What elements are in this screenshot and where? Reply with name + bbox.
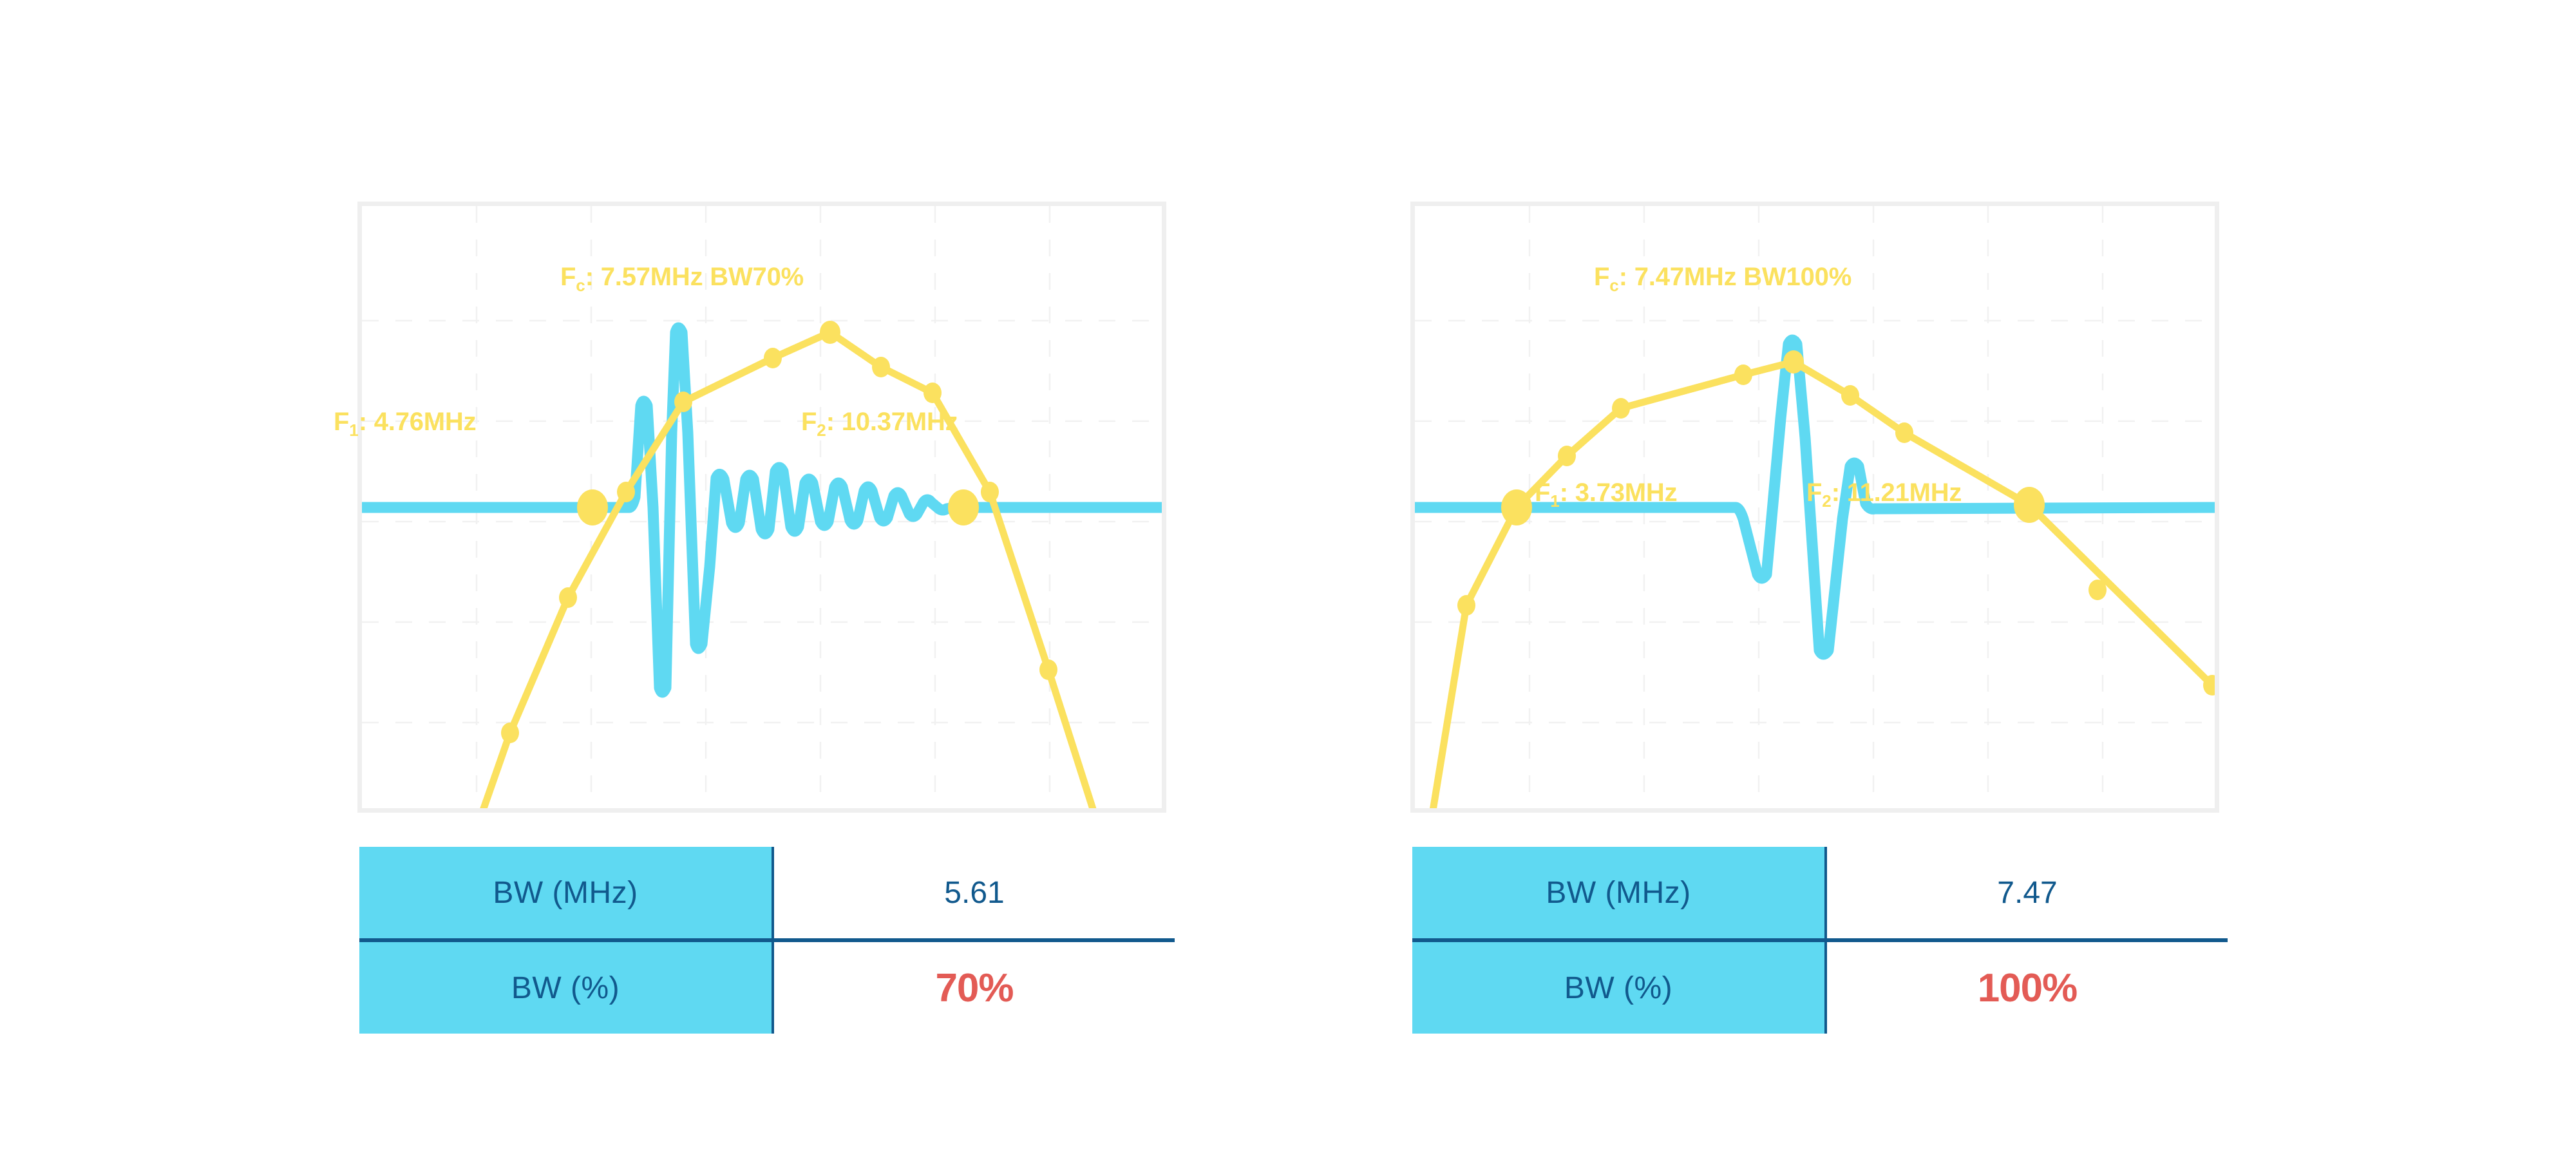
f1-symbol: F1 [334,408,359,436]
bw-mhz-value: 5.61 [773,847,1175,940]
fc-symbol: Fc [560,263,585,291]
upper-cutoff-label-bw100: F2: 11.21MHz [1806,480,1962,509]
spectrum-markers-bw100 [1457,350,2215,695]
f2-crossing-marker [948,489,979,525]
f2-symbol: F2 [801,408,826,436]
fc-symbol: Fc [1594,263,1619,291]
bandwidth-table-bw70: BW (MHz) 5.61 BW (%) 70% [359,847,1175,1034]
table-row: BW (%) 70% [359,940,1175,1034]
table-row: BW (MHz) 7.47 [1412,847,2228,940]
panel-bw70: Fc: 7.57MHz BW70% F1: 4.76MHz F2: 10.37M… [348,187,1198,1037]
bw-mhz-label: BW (MHz) [1412,847,1826,940]
table-row: BW (%) 100% [1412,940,2228,1034]
f1-crossing-marker [1501,489,1532,525]
bw-pct-label: BW (%) [359,940,773,1034]
spectrum-curve-path [454,332,1106,808]
lower-cutoff-label-bw100: F1: 3.73MHz [1535,480,1677,509]
comparison-figure: Fc: 7.57MHz BW70% F1: 4.76MHz F2: 10.37M… [0,0,2576,1154]
pulse-waveform-path [362,328,1162,692]
spectrum-markers-bw70 [501,321,1115,808]
bw-pct-label: BW (%) [1412,940,1826,1034]
bw-pct-value: 70% [773,940,1175,1034]
bw-mhz-value: 7.47 [1826,847,2228,940]
bw-mhz-label: BW (MHz) [359,847,773,940]
panel-bw100: Fc: 7.47MHz BW100% F1: 3.73MHz F2: 11.21… [1401,187,2251,1037]
f1-symbol: F1 [1535,478,1560,507]
center-frequency-label-bw70: Fc: 7.57MHz BW70% [560,264,804,294]
f2-crossing-marker [2014,487,2045,523]
bw-pct-value: 100% [1826,940,2228,1034]
chart-plot-area-bw70 [362,206,1162,808]
center-frequency-label-bw100: Fc: 7.47MHz BW100% [1594,264,1851,294]
upper-cutoff-label-bw70: F2: 10.37MHz [801,409,958,439]
f1-crossing-marker [577,489,608,525]
f2-symbol: F2 [1806,478,1832,507]
table-row: BW (MHz) 5.61 [359,847,1175,940]
chart-curves-bw70 [362,206,1162,808]
bandwidth-table-bw100: BW (MHz) 7.47 BW (%) 100% [1412,847,2228,1034]
lower-cutoff-label-bw70: F1: 4.76MHz [334,409,476,439]
